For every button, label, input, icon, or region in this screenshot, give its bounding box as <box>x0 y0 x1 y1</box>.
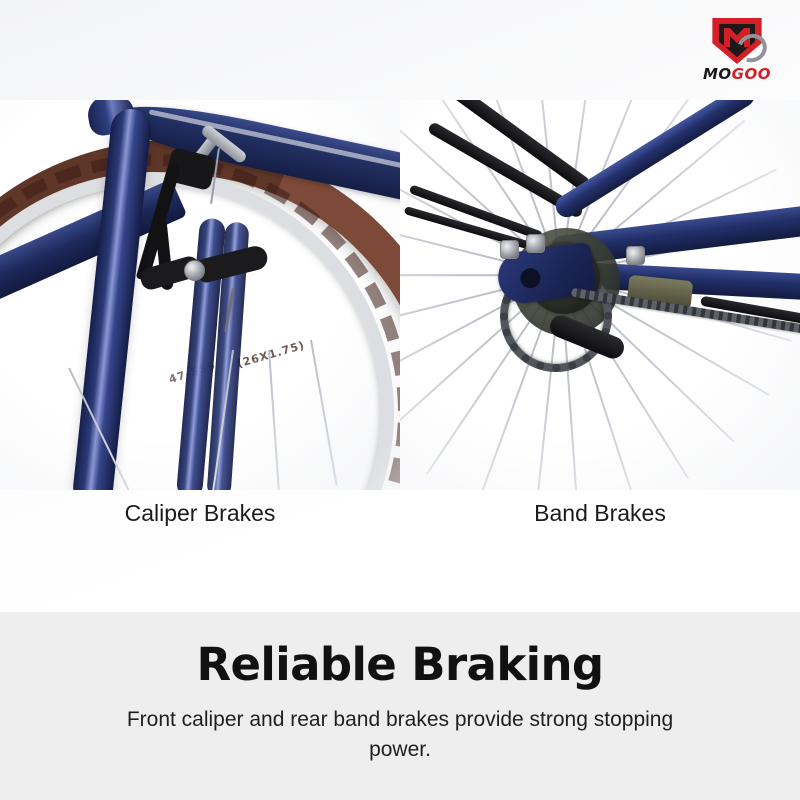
mogoo-shield-icon <box>709 18 765 64</box>
bottom-panel: Reliable Braking Front caliper and rear … <box>0 612 800 800</box>
axle-nut <box>626 246 645 265</box>
headline: Reliable Braking <box>0 612 800 691</box>
brand-logo: MOGOO <box>694 18 780 86</box>
axle-nut <box>500 240 519 259</box>
wordmark-red-part: GOO <box>732 65 771 83</box>
band-brake-photo <box>400 100 800 490</box>
product-infographic: MOGOO (26X1.75) 47-559 <box>0 0 800 800</box>
photo-band: (26X1.75) 47-559 <box>0 100 800 490</box>
brand-wordmark: MOGOO <box>694 67 780 82</box>
dropout-axle-hole <box>519 267 542 290</box>
wordmark-dark-part: MO <box>703 65 732 83</box>
photo-captions: Caliper Brakes Band Brakes <box>0 500 800 527</box>
caliper-center-bolt <box>184 260 205 281</box>
caliper-brake-photo: (26X1.75) 47-559 <box>0 100 400 490</box>
axle-nut <box>526 234 545 253</box>
subtext: Front caliper and rear band brakes provi… <box>120 705 680 766</box>
caption-band-brakes: Band Brakes <box>400 500 800 527</box>
caption-caliper-brakes: Caliper Brakes <box>0 500 400 527</box>
